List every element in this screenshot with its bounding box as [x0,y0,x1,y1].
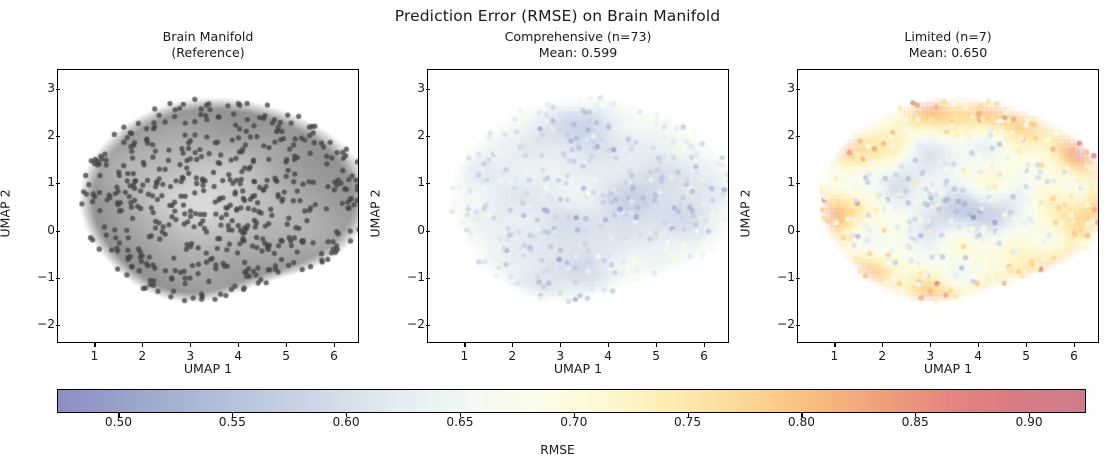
y-tick-mark [56,183,60,184]
x-tick-mark [512,343,513,347]
y-tick-mark [426,278,430,279]
y-tick-label: −2 [15,317,55,331]
y-axis-label-reference: UMAP 2 [0,124,13,304]
x-tick-label: 1 [814,349,854,363]
x-tick-label: 4 [218,349,258,363]
plot-area-reference [57,69,359,343]
y-tick-label: −2 [385,317,425,331]
panel-title-comprehensive: Comprehensive (n=73) Mean: 0.599 [392,29,764,61]
x-tick-mark [656,343,657,347]
colorbar-tick-mark [801,413,802,417]
y-tick-mark [56,325,60,326]
x-axis-label-comprehensive: UMAP 1 [427,361,729,376]
x-tick-label: 6 [314,349,354,363]
x-tick-label: 3 [910,349,950,363]
y-tick-mark [56,231,60,232]
y-tick-label: 1 [385,175,425,189]
plot-area-comprehensive [427,69,729,343]
x-tick-mark [464,343,465,347]
y-tick-mark [56,136,60,137]
y-tick-mark [56,89,60,90]
y-tick-mark [796,325,800,326]
y-axis-label-comprehensive: UMAP 2 [368,124,383,304]
panel-title-reference: Brain Manifold (Reference) [22,29,394,61]
plot-area-limited [797,69,1099,343]
colorbar-tick-mark [1029,413,1030,417]
y-tick-label: −2 [755,317,795,331]
y-tick-label: −1 [755,270,795,284]
x-tick-label: 4 [958,349,998,363]
x-tick-label: 5 [636,349,676,363]
y-tick-label: −1 [15,270,55,284]
colorbar-tick-label: 0.50 [88,415,148,429]
y-tick-mark [426,325,430,326]
colorbar-tick-mark [915,413,916,417]
x-tick-mark [238,343,239,347]
colorbar-tick-label: 0.75 [658,415,718,429]
x-tick-mark [142,343,143,347]
rmse-canvas-comprehensive [428,70,729,343]
y-tick-mark [796,231,800,232]
panel-reference: Brain Manifold (Reference) UMAP 2 UMAP 1… [57,69,359,343]
colorbar-tick-label: 0.85 [885,415,945,429]
colorbar-tick-label: 0.60 [316,415,376,429]
x-tick-label: 2 [862,349,902,363]
y-tick-label: 3 [755,81,795,95]
x-axis-label-limited: UMAP 1 [797,361,1099,376]
x-tick-label: 3 [170,349,210,363]
colorbar-tick-mark [688,413,689,417]
x-tick-label: 4 [588,349,628,363]
y-tick-label: 0 [385,223,425,237]
colorbar-tick-mark [460,413,461,417]
y-tick-label: 0 [755,223,795,237]
x-tick-mark [882,343,883,347]
panel-title-limited: Limited (n=7) Mean: 0.650 [762,29,1115,61]
colorbar-tick-label: 0.55 [202,415,262,429]
y-tick-mark [796,136,800,137]
y-tick-mark [796,278,800,279]
y-tick-mark [426,183,430,184]
x-tick-mark [334,343,335,347]
y-tick-label: 0 [15,223,55,237]
colorbar-gradient [57,389,1086,413]
x-tick-mark [704,343,705,347]
x-tick-mark [190,343,191,347]
y-tick-mark [796,89,800,90]
x-tick-mark [1026,343,1027,347]
panel-comprehensive: Comprehensive (n=73) Mean: 0.599 UMAP 2 … [427,69,729,343]
x-tick-label: 5 [266,349,306,363]
x-tick-label: 2 [122,349,162,363]
x-tick-mark [978,343,979,347]
colorbar-tick-label: 0.80 [771,415,831,429]
y-tick-label: 3 [385,81,425,95]
y-tick-mark [56,278,60,279]
y-tick-label: 1 [755,175,795,189]
colorbar-tick-label: 0.65 [430,415,490,429]
x-tick-label: 1 [444,349,484,363]
colorbar-tick-label: 0.90 [999,415,1059,429]
y-tick-label: 2 [385,128,425,142]
colorbar: 0.500.550.600.650.700.750.800.850.90 [57,389,1086,413]
x-tick-label: 3 [540,349,580,363]
x-tick-label: 1 [74,349,114,363]
x-tick-label: 6 [1054,349,1094,363]
y-tick-mark [426,231,430,232]
y-tick-label: 3 [15,81,55,95]
x-axis-label-reference: UMAP 1 [57,361,359,376]
x-tick-label: 2 [492,349,532,363]
x-tick-label: 6 [684,349,724,363]
y-tick-mark [796,183,800,184]
y-tick-label: −1 [385,270,425,284]
y-tick-mark [426,136,430,137]
x-tick-mark [608,343,609,347]
y-tick-label: 2 [755,128,795,142]
x-tick-mark [834,343,835,347]
figure-canvas: Prediction Error (RMSE) on Brain Manifol… [0,0,1115,461]
x-tick-mark [930,343,931,347]
x-tick-label: 5 [1006,349,1046,363]
colorbar-tick-label: 0.70 [544,415,604,429]
figure-title: Prediction Error (RMSE) on Brain Manifol… [0,7,1115,25]
y-tick-label: 2 [15,128,55,142]
x-tick-mark [560,343,561,347]
colorbar-tick-mark [574,413,575,417]
colorbar-tick-mark [232,413,233,417]
colorbar-tick-mark [346,413,347,417]
colorbar-label: RMSE [0,443,1115,457]
y-tick-label: 1 [15,175,55,189]
panel-limited: Limited (n=7) Mean: 0.650 UMAP 2 UMAP 1 … [797,69,1099,343]
density-canvas-reference [58,70,359,343]
colorbar-tick-mark [118,413,119,417]
x-tick-mark [94,343,95,347]
x-tick-mark [1074,343,1075,347]
rmse-canvas-limited [798,70,1099,343]
x-tick-mark [286,343,287,347]
y-tick-mark [426,89,430,90]
y-axis-label-limited: UMAP 2 [738,124,753,304]
